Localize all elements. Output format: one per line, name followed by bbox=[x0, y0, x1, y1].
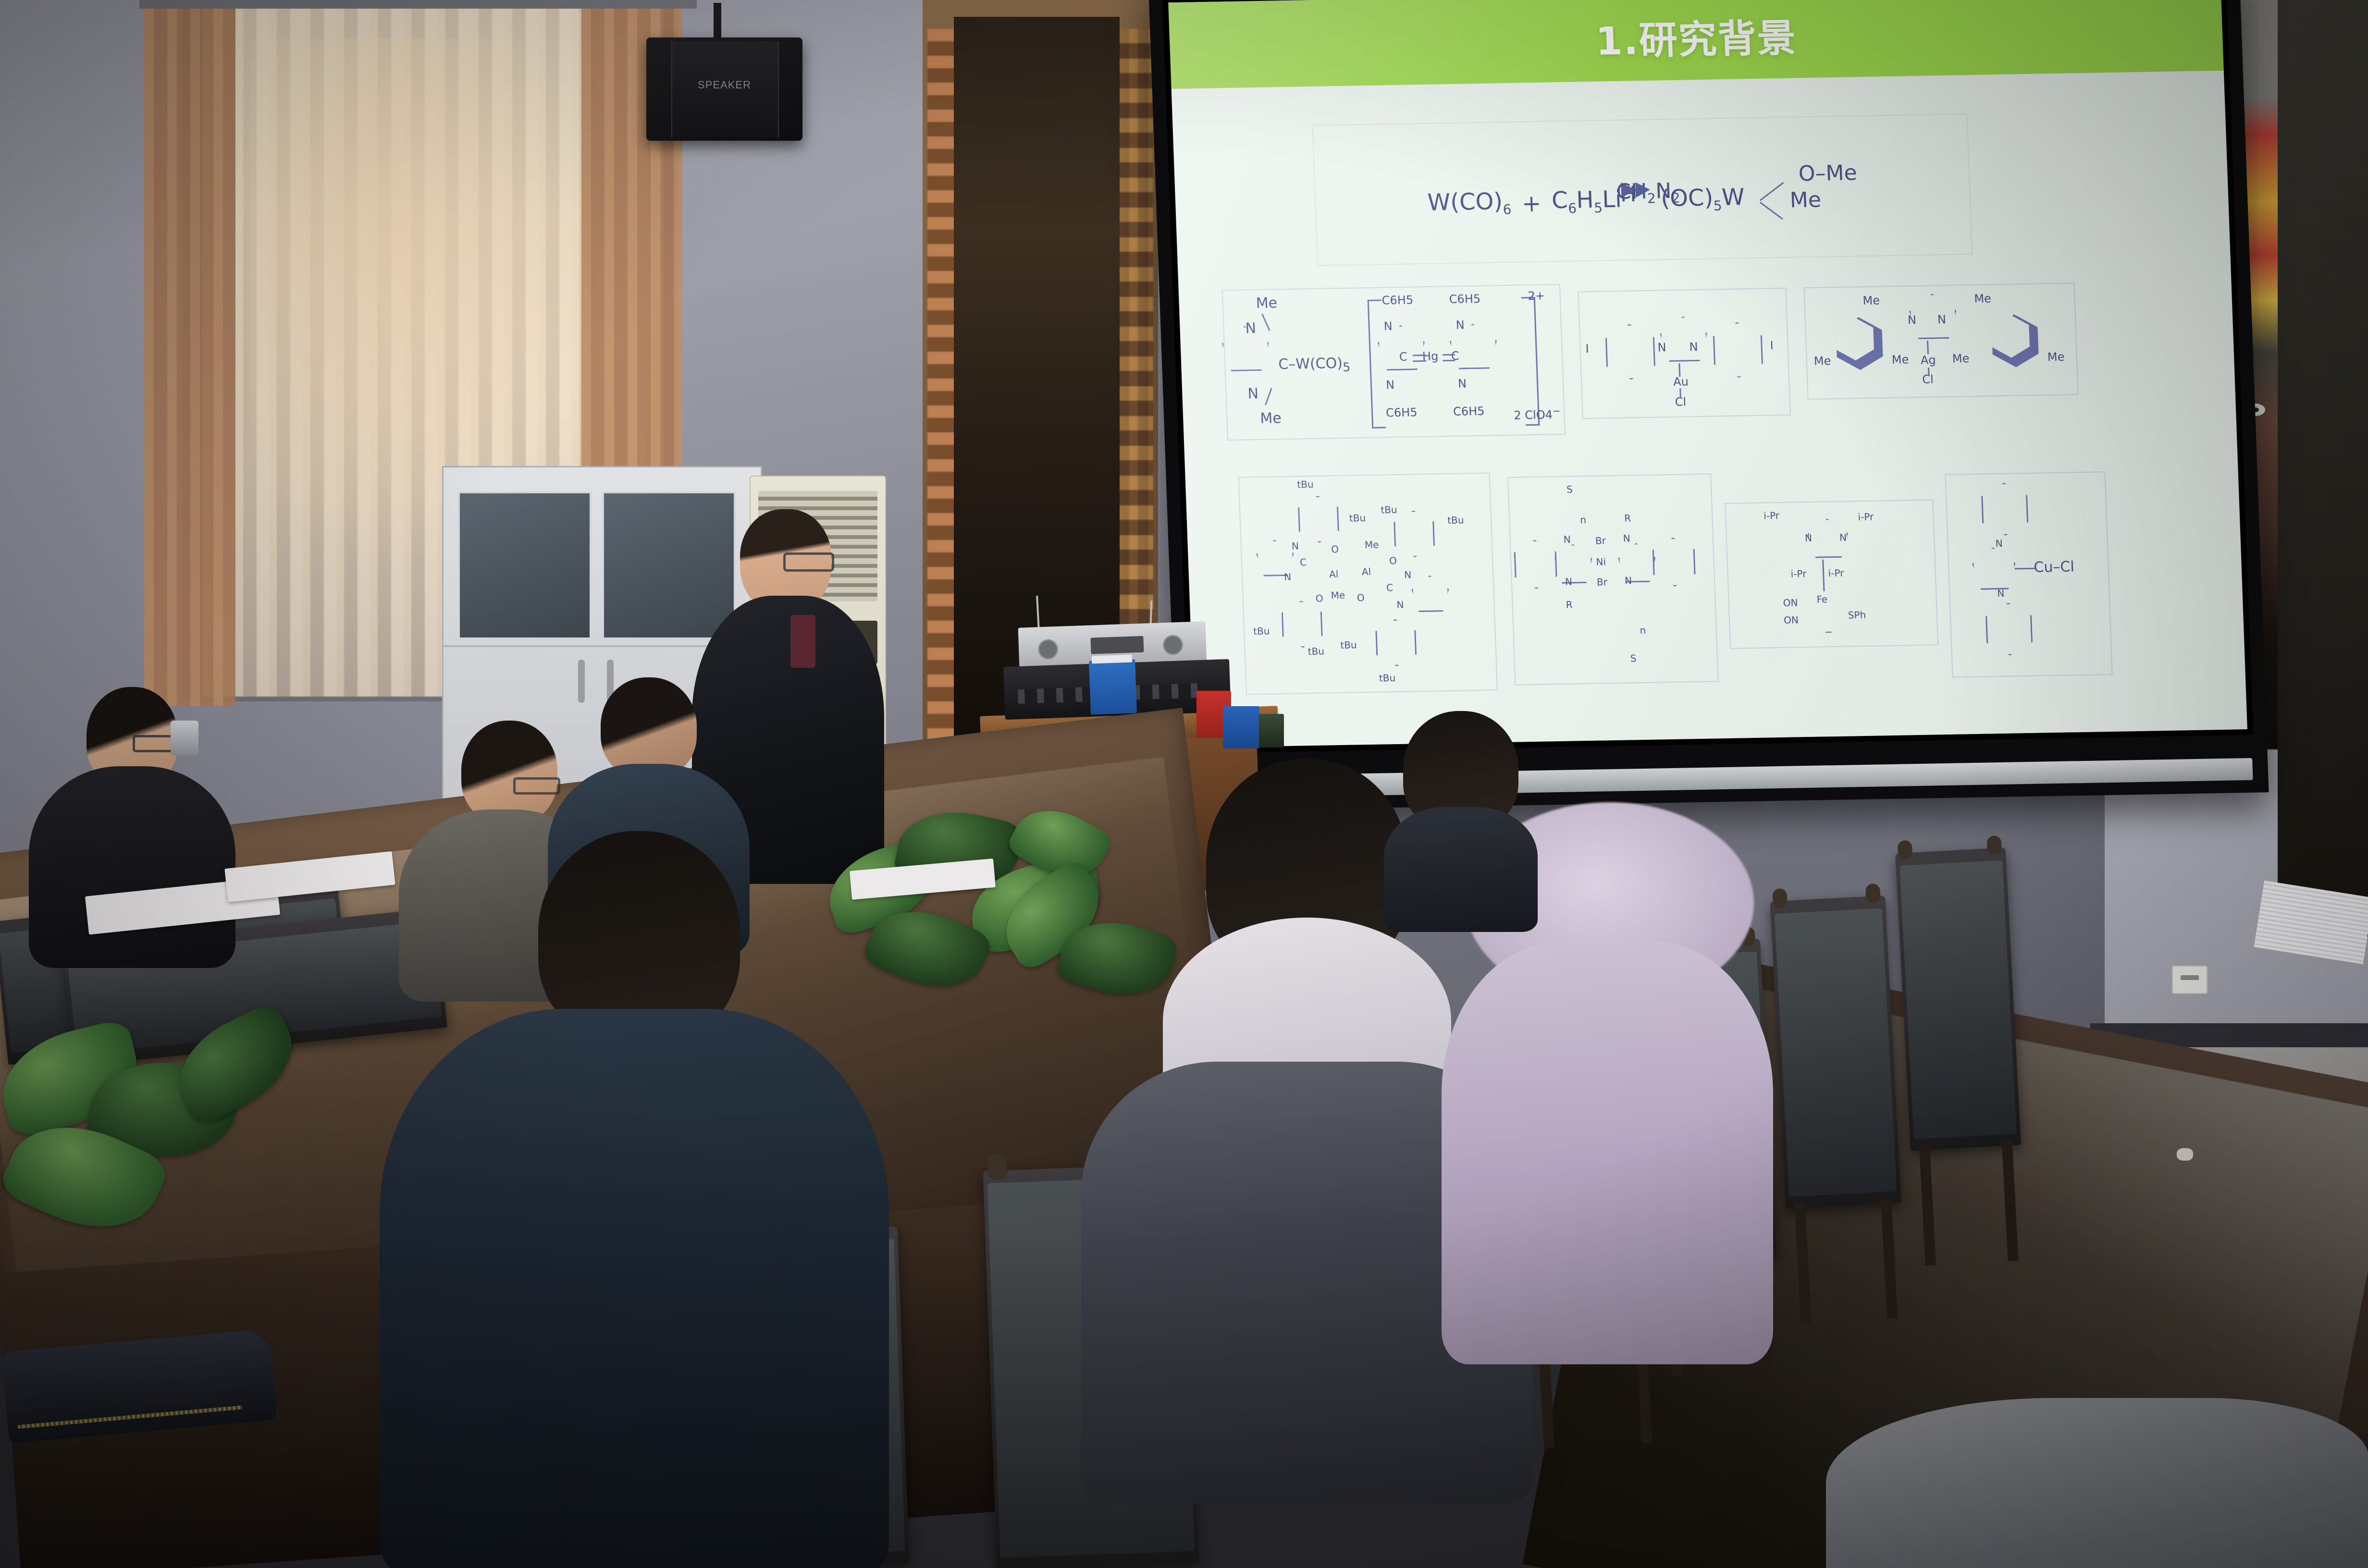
equation-carbene-group: O–Me Me bbox=[1757, 160, 1858, 213]
chair-post-left bbox=[987, 1153, 1007, 1180]
receiver-port-icon-left bbox=[1037, 639, 1058, 660]
attendee-left-behind-head bbox=[601, 677, 697, 778]
curtain-rod bbox=[139, 0, 697, 9]
reaction-equation: W(CO)6 + C6H5Li H+ CH2N2 (OC) bbox=[1426, 160, 1858, 219]
slide-title: 1.研究背景 bbox=[1594, 7, 1797, 66]
chair-post-left bbox=[1898, 840, 1913, 860]
structures-row-middle: Me N C–W(CO)5 N Me C6H5 C bbox=[1222, 273, 2189, 448]
equation-reactant-1: W(CO)6 bbox=[1427, 188, 1512, 219]
person-attendee-bottom-right bbox=[1826, 1369, 2368, 1568]
meeting-room-photo: SPEAKER 1.研究背景 bbox=[0, 0, 2368, 1568]
bag-zipper bbox=[17, 1405, 243, 1429]
blue-box bbox=[1089, 659, 1137, 714]
dark-box bbox=[1259, 714, 1284, 747]
blue-box-2 bbox=[1223, 706, 1259, 748]
carbene-bond-lines bbox=[1760, 183, 1804, 217]
equation-reactant-2: C6H5Li bbox=[1551, 186, 1622, 217]
screen-surface: 1.研究背景 W(CO)6 + C6H5Li H+ bbox=[1168, 0, 2247, 747]
chair-right-2 bbox=[1770, 895, 1901, 1209]
receiver-display bbox=[1090, 636, 1144, 654]
receiver-port-icon-right bbox=[1162, 635, 1183, 655]
equation-arrow-2-wrap: CH2N2 bbox=[1646, 188, 1651, 215]
chair-back-pad bbox=[1899, 860, 2017, 1139]
attendee-right-back-coat bbox=[1384, 807, 1538, 932]
structure-cu-cl-ipr: N N Cu–Cl bbox=[1945, 471, 2112, 678]
structure-w-co5-nhc: Me N C–W(CO)5 N Me C6H5 C bbox=[1222, 284, 1566, 441]
person-attendee-right-back bbox=[1384, 711, 1538, 913]
screen-bezel: 1.研究背景 W(CO)6 + C6H5Li H+ bbox=[1162, 0, 2253, 753]
structure-ni-br2-nhc: S n N N Br Ni Br N N bbox=[1507, 474, 1719, 686]
right-dark-panel bbox=[2278, 0, 2368, 937]
structures-row-bottom: tBu tBu tBu tBu N N C bbox=[1238, 460, 2203, 702]
speaker-bracket bbox=[714, 3, 721, 41]
structure-au-cl-nhc: I N N Au Cl I bbox=[1578, 288, 1791, 419]
projection-screen: 1.研究背景 W(CO)6 + C6H5Li H+ bbox=[1148, 0, 2269, 811]
glasses-icon bbox=[783, 552, 834, 572]
attendee-left-back-coat bbox=[29, 766, 235, 968]
structure-ag-cl-bis-nhc: Me Me N N Me Me Ag Me Me Cl bbox=[1803, 282, 2078, 400]
wall-speaker: SPEAKER bbox=[646, 37, 802, 141]
drinking-cup bbox=[171, 721, 198, 755]
chair-right-1 bbox=[1895, 847, 2021, 1151]
chair-post-right bbox=[1865, 883, 1881, 904]
potted-plant-left bbox=[0, 994, 375, 1283]
cabinet-glass-door-left bbox=[458, 491, 592, 639]
reaction-equation-box: W(CO)6 + C6H5Li H+ CH2N2 (OC) bbox=[1312, 113, 1973, 266]
attendee-left-front-jacket bbox=[380, 1009, 889, 1568]
chair-back-pad bbox=[1775, 908, 1897, 1197]
structure-al2-nhc: tBu tBu tBu tBu N N C bbox=[1238, 473, 1498, 695]
speaker-logo: SPEAKER bbox=[646, 79, 802, 91]
structure-fe-no2-sph-nhc: i-Pr i-Pr N N i-Pr i-Pr ON Fe ON bbox=[1725, 499, 1938, 649]
equation-product-top: O–Me bbox=[1798, 160, 1857, 186]
table-debris bbox=[2177, 1148, 2193, 1161]
attendee-right-lavender-coat bbox=[1442, 942, 1773, 1364]
presenter-collar bbox=[790, 615, 815, 668]
curtain-drape-left bbox=[144, 0, 235, 706]
equation-plus: + bbox=[1521, 190, 1542, 218]
power-socket-icon bbox=[2172, 966, 2208, 994]
slide-body: W(CO)6 + C6H5Li H+ CH2N2 (OC) bbox=[1172, 71, 2247, 747]
potted-plant-podium bbox=[990, 850, 1192, 1052]
attendee-bottom-right-coat bbox=[1826, 1398, 2368, 1568]
attendee-left-mid-head bbox=[461, 721, 557, 824]
chair-post-right bbox=[1986, 835, 2002, 856]
blue-box-cap bbox=[1092, 655, 1133, 664]
